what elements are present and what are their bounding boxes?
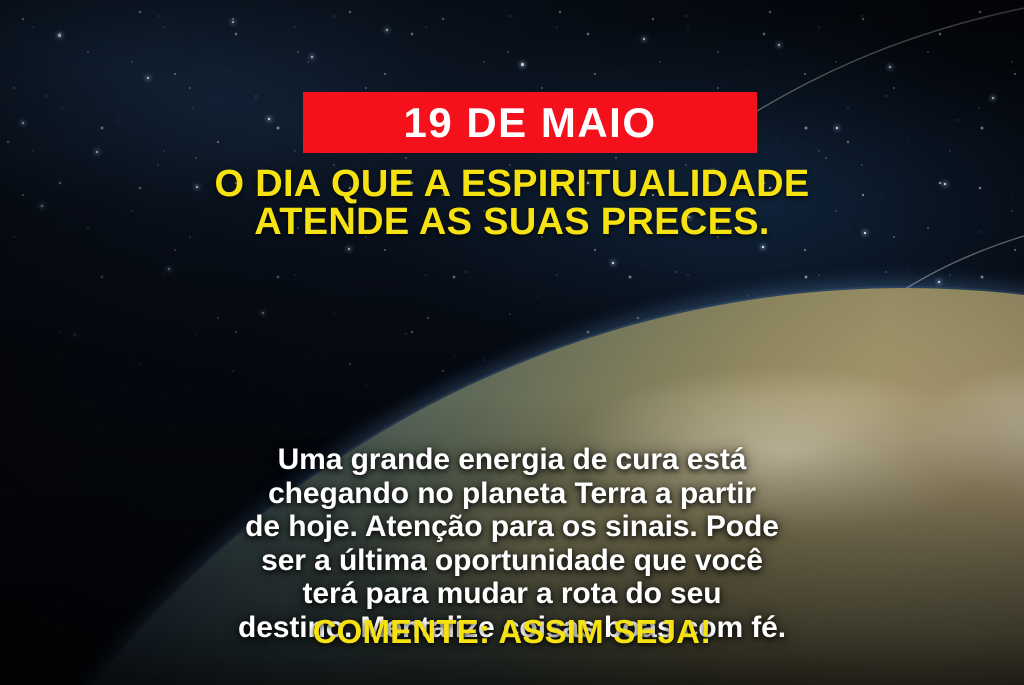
body-line-2: chegando no planeta Terra a partir xyxy=(0,477,1024,511)
body-line-3: de hoje. Atenção para os sinais. Pode xyxy=(0,510,1024,544)
body-line-1: Uma grande energia de cura está xyxy=(0,443,1024,477)
page-title: O DIA QUE A ESPIRITUALIDADE ATENDE AS SU… xyxy=(0,165,1024,241)
poster-canvas: 19 DE MAIO O DIA QUE A ESPIRITUALIDADE A… xyxy=(0,0,1024,685)
headline-line-1: O DIA QUE A ESPIRITUALIDADE xyxy=(0,165,1024,203)
poster-content: 19 DE MAIO O DIA QUE A ESPIRITUALIDADE A… xyxy=(0,0,1024,685)
date-badge: 19 DE MAIO xyxy=(303,92,757,153)
body-line-5: terá para mudar a rota do seu xyxy=(0,577,1024,611)
headline-line-2: ATENDE AS SUAS PRECES. xyxy=(0,203,1024,241)
body-line-4: ser a última oportunidade que você xyxy=(0,544,1024,578)
date-badge-label: 19 DE MAIO xyxy=(403,102,656,144)
call-to-action-text: COMENTE: ASSIM SEJA! xyxy=(0,615,1024,648)
